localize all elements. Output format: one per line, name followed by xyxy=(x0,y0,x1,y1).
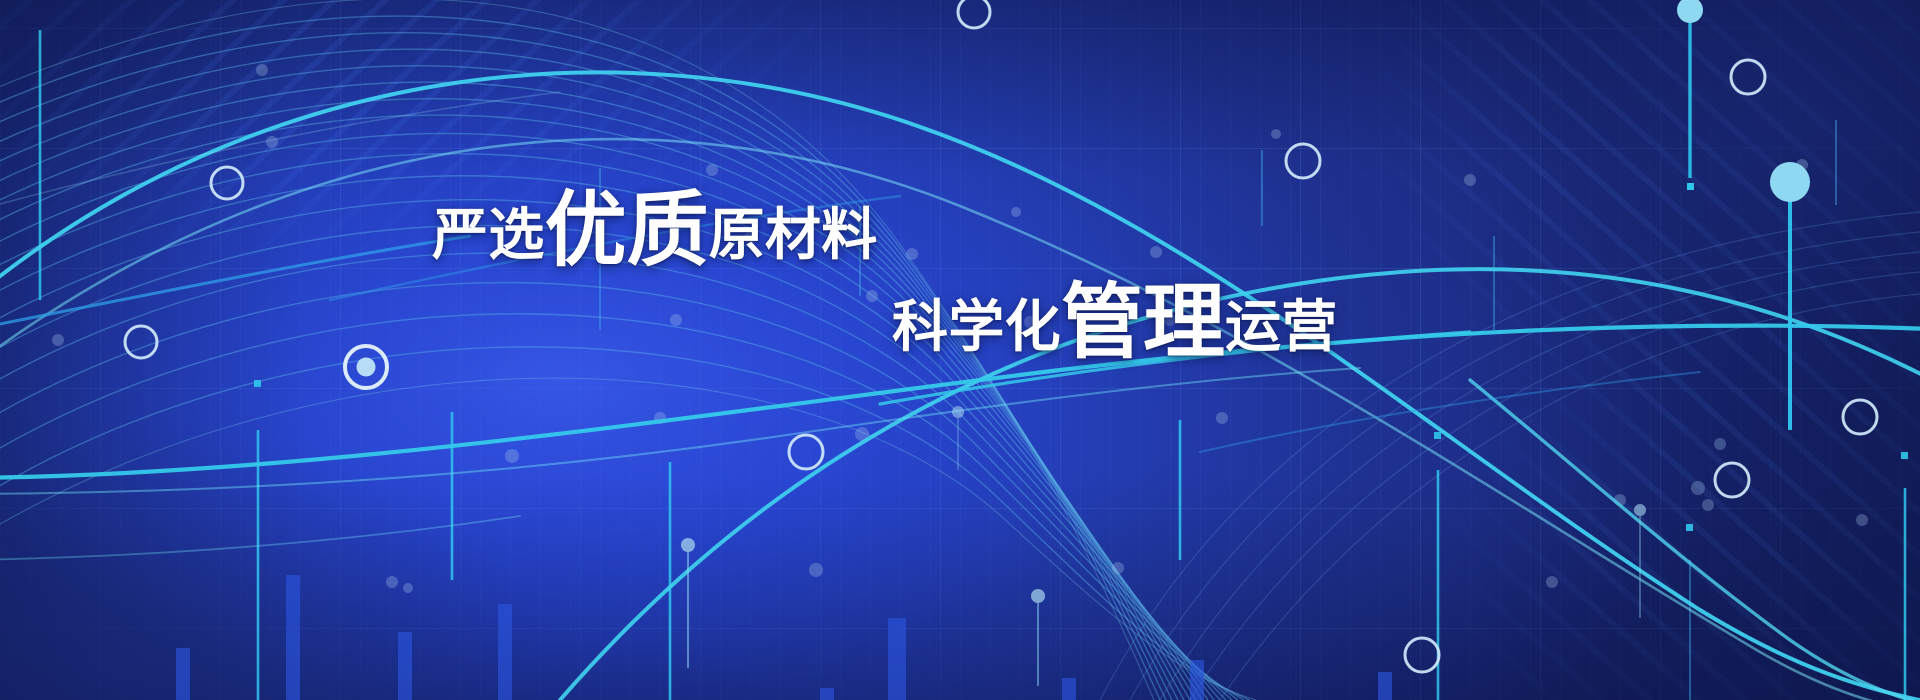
hero-banner: 严选优质原材料 科学化管理运营 xyxy=(0,0,1920,700)
ring-center-low xyxy=(789,435,823,469)
pin-large-top-right xyxy=(1677,0,1703,190)
ring-bottom-right xyxy=(1715,463,1749,497)
ring-mid-right xyxy=(1286,144,1320,178)
rings-and-pins xyxy=(0,0,1920,700)
target-marker xyxy=(345,346,387,388)
ring-left-upper xyxy=(211,167,243,199)
pin-small-lower xyxy=(1031,589,1045,686)
ring-left-mid xyxy=(125,326,157,358)
pin-large-right xyxy=(1770,162,1810,430)
pin-mid-left xyxy=(952,406,964,470)
pin-small-center xyxy=(681,538,695,668)
ring-right-low xyxy=(1843,400,1877,434)
ring-bottom-center xyxy=(1405,638,1439,672)
ring-top-center xyxy=(958,0,990,28)
ring-top-right xyxy=(1731,60,1765,94)
pin-small-right xyxy=(1634,504,1646,618)
